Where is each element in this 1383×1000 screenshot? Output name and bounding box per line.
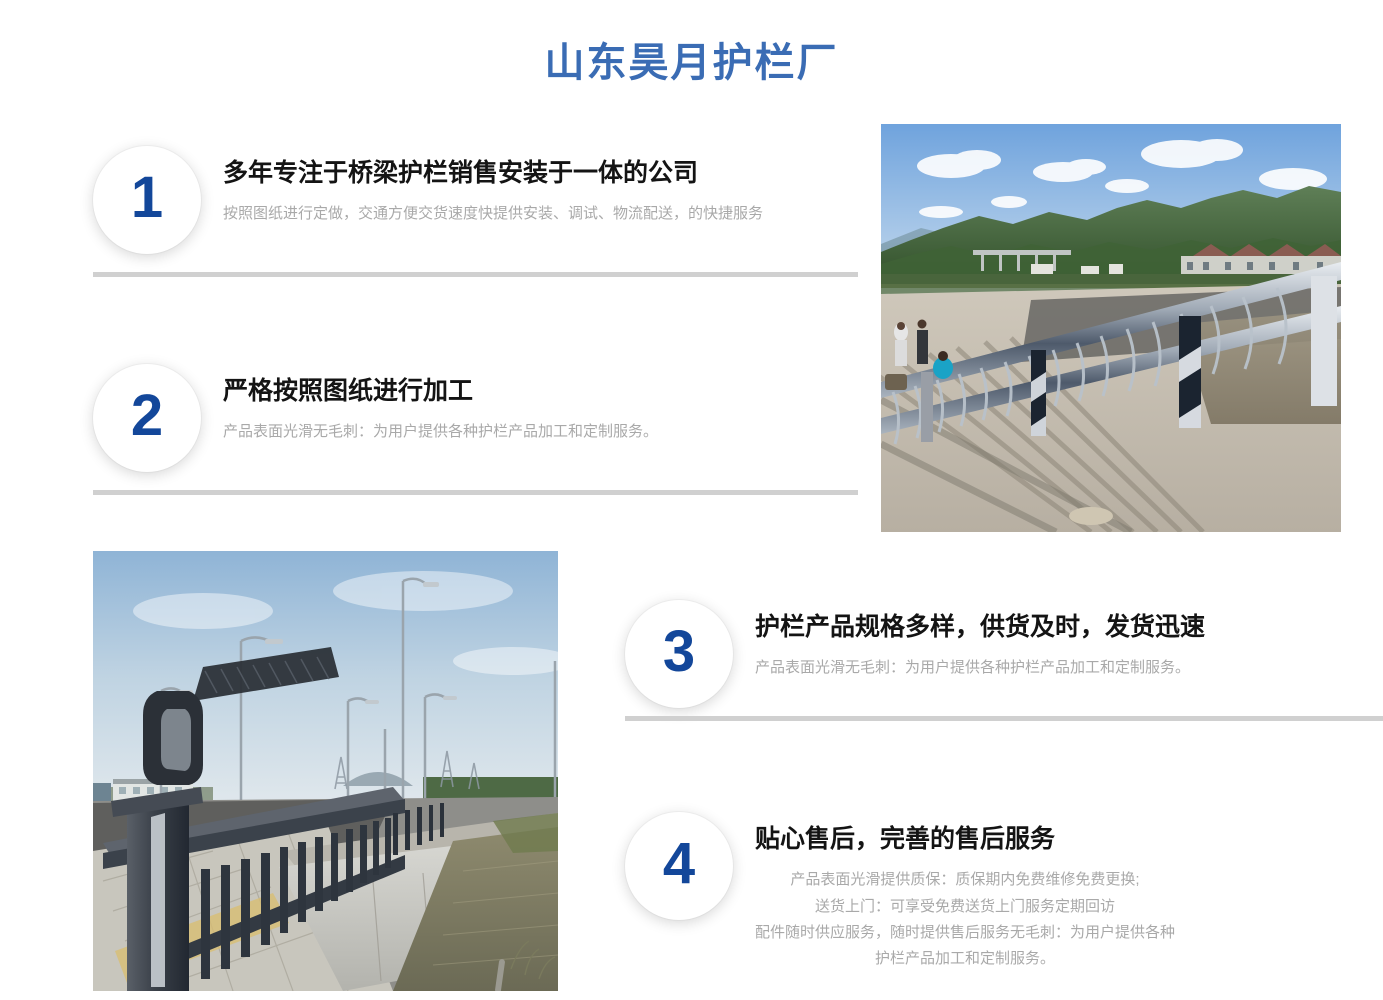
feature-description-4-line-4: 护栏产品加工和定制服务。 bbox=[755, 946, 1175, 972]
feature-text-1: 多年专注于桥梁护栏销售安装于一体的公司 按照图纸进行定做，交通方便交货速度快提供… bbox=[223, 146, 763, 228]
feature-text-3: 护栏产品规格多样，供货及时，发货迅速 产品表面光滑无毛刺：为用户提供各种护栏产品… bbox=[755, 600, 1205, 682]
feature-text-4: 贴心售后，完善的售后服务 产品表面光滑提供质保：质保期内免费维修免费更换; 送货… bbox=[755, 812, 1175, 972]
feature-description-4-line-1: 产品表面光滑提供质保：质保期内免费维修免费更换; bbox=[755, 867, 1175, 893]
feature-description-2-line-1: 产品表面光滑无毛刺：为用户提供各种护栏产品加工和定制服务。 bbox=[223, 419, 658, 445]
feature-text-2: 严格按照图纸进行加工 产品表面光滑无毛刺：为用户提供各种护栏产品加工和定制服务。 bbox=[223, 364, 658, 446]
feature-number-4: 4 bbox=[663, 835, 695, 893]
feature-description-1-line-1: 按照图纸进行定做，交通方便交货速度快提供安装、调试、物流配送，的快捷服务 bbox=[223, 201, 763, 227]
divider-after-feature-2 bbox=[93, 490, 858, 495]
feature-title-2: 严格按照图纸进行加工 bbox=[223, 376, 658, 407]
divider-after-feature-1 bbox=[93, 272, 858, 277]
feature-title-1: 多年专注于桥梁护栏销售安装于一体的公司 bbox=[223, 158, 763, 189]
feature-item-1: 1 多年专注于桥梁护栏销售安装于一体的公司 按照图纸进行定做，交通方便交货速度快… bbox=[93, 146, 763, 254]
feature-number-badge-2: 2 bbox=[93, 364, 201, 472]
poster-page: 山东昊月护栏厂 bbox=[0, 0, 1383, 1000]
feature-description-4-line-2: 送货上门：可享受免费送货上门服务定期回访 bbox=[755, 894, 1175, 920]
page-title: 山东昊月护栏厂 bbox=[0, 30, 1383, 88]
feature-number-badge-4: 4 bbox=[625, 812, 733, 920]
feature-item-4: 4 贴心售后，完善的售后服务 产品表面光滑提供质保：质保期内免费维修免费更换; … bbox=[625, 812, 1175, 972]
feature-title-3: 护栏产品规格多样，供货及时，发货迅速 bbox=[755, 612, 1205, 643]
photo-bridge-dark-railing-canal bbox=[93, 551, 558, 991]
photo-bridge-stainless-guardrail bbox=[881, 124, 1341, 532]
feature-item-3: 3 护栏产品规格多样，供货及时，发货迅速 产品表面光滑无毛刺：为用户提供各种护栏… bbox=[625, 600, 1205, 708]
feature-number-2: 2 bbox=[131, 387, 163, 445]
feature-number-1: 1 bbox=[131, 169, 163, 227]
feature-number-badge-1: 1 bbox=[93, 146, 201, 254]
feature-title-4: 贴心售后，完善的售后服务 bbox=[755, 824, 1175, 855]
divider-after-feature-3 bbox=[625, 716, 1383, 721]
feature-item-2: 2 严格按照图纸进行加工 产品表面光滑无毛刺：为用户提供各种护栏产品加工和定制服… bbox=[93, 364, 658, 472]
feature-number-badge-3: 3 bbox=[625, 600, 733, 708]
feature-description-3-line-1: 产品表面光滑无毛刺：为用户提供各种护栏产品加工和定制服务。 bbox=[755, 655, 1205, 681]
bridge-guardrail-illustration bbox=[881, 124, 1341, 532]
bridge-canal-illustration bbox=[93, 551, 558, 991]
feature-description-4-line-3: 配件随时供应服务，随时提供售后服务无毛刺：为用户提供各种 bbox=[755, 920, 1175, 946]
feature-number-3: 3 bbox=[663, 623, 695, 681]
